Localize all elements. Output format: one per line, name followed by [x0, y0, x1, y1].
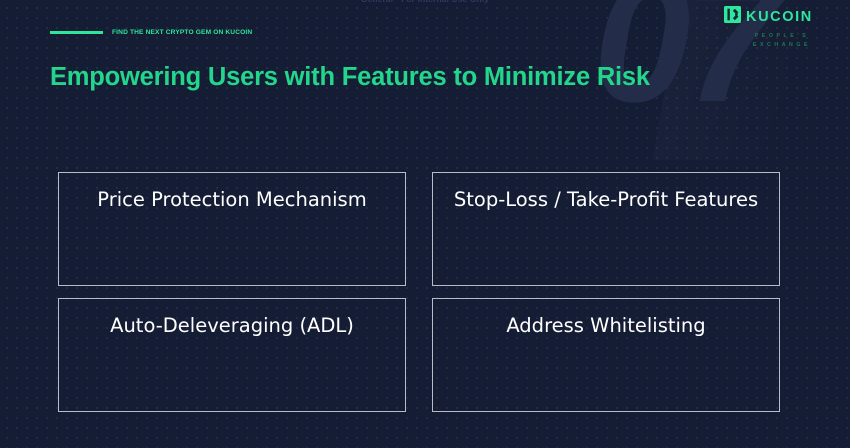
- kucoin-brand-logo: KUCOIN PEOPLE'S EXCHANGE: [724, 6, 836, 48]
- presentation-slide: 07 General · For Internal Use Only KUCOI…: [0, 0, 850, 448]
- feature-card[interactable]: Address Whitelisting: [432, 298, 780, 412]
- eyebrow-label: FIND THE NEXT CRYPTO GEM ON KUCOIN: [50, 29, 252, 36]
- kucoin-wordmark: KUCOIN: [746, 10, 813, 25]
- kucoin-k-logo-icon: [724, 6, 741, 28]
- eyebrow-text: FIND THE NEXT CRYPTO GEM ON KUCOIN: [112, 29, 252, 36]
- brand-tagline-line1: PEOPLE'S: [724, 33, 836, 39]
- feature-card-grid: Price Protection Mechanism Stop-Loss / T…: [58, 172, 780, 412]
- slide-title: Empowering Users with Features to Minimi…: [50, 61, 650, 94]
- feature-card-label: Auto-Deleveraging (ADL): [59, 312, 405, 340]
- confidentiality-notice: General · For Internal Use Only: [0, 0, 850, 4]
- feature-card[interactable]: Auto-Deleveraging (ADL): [58, 298, 406, 412]
- feature-card[interactable]: Price Protection Mechanism: [58, 172, 406, 286]
- feature-card-label: Price Protection Mechanism: [59, 186, 405, 214]
- feature-card-label: Address Whitelisting: [433, 312, 779, 340]
- brand-tagline-line2: EXCHANGE: [724, 42, 836, 48]
- accent-rule: [50, 31, 103, 34]
- feature-card-label: Stop-Loss / Take-Profit Features: [433, 186, 779, 214]
- feature-card[interactable]: Stop-Loss / Take-Profit Features: [432, 172, 780, 286]
